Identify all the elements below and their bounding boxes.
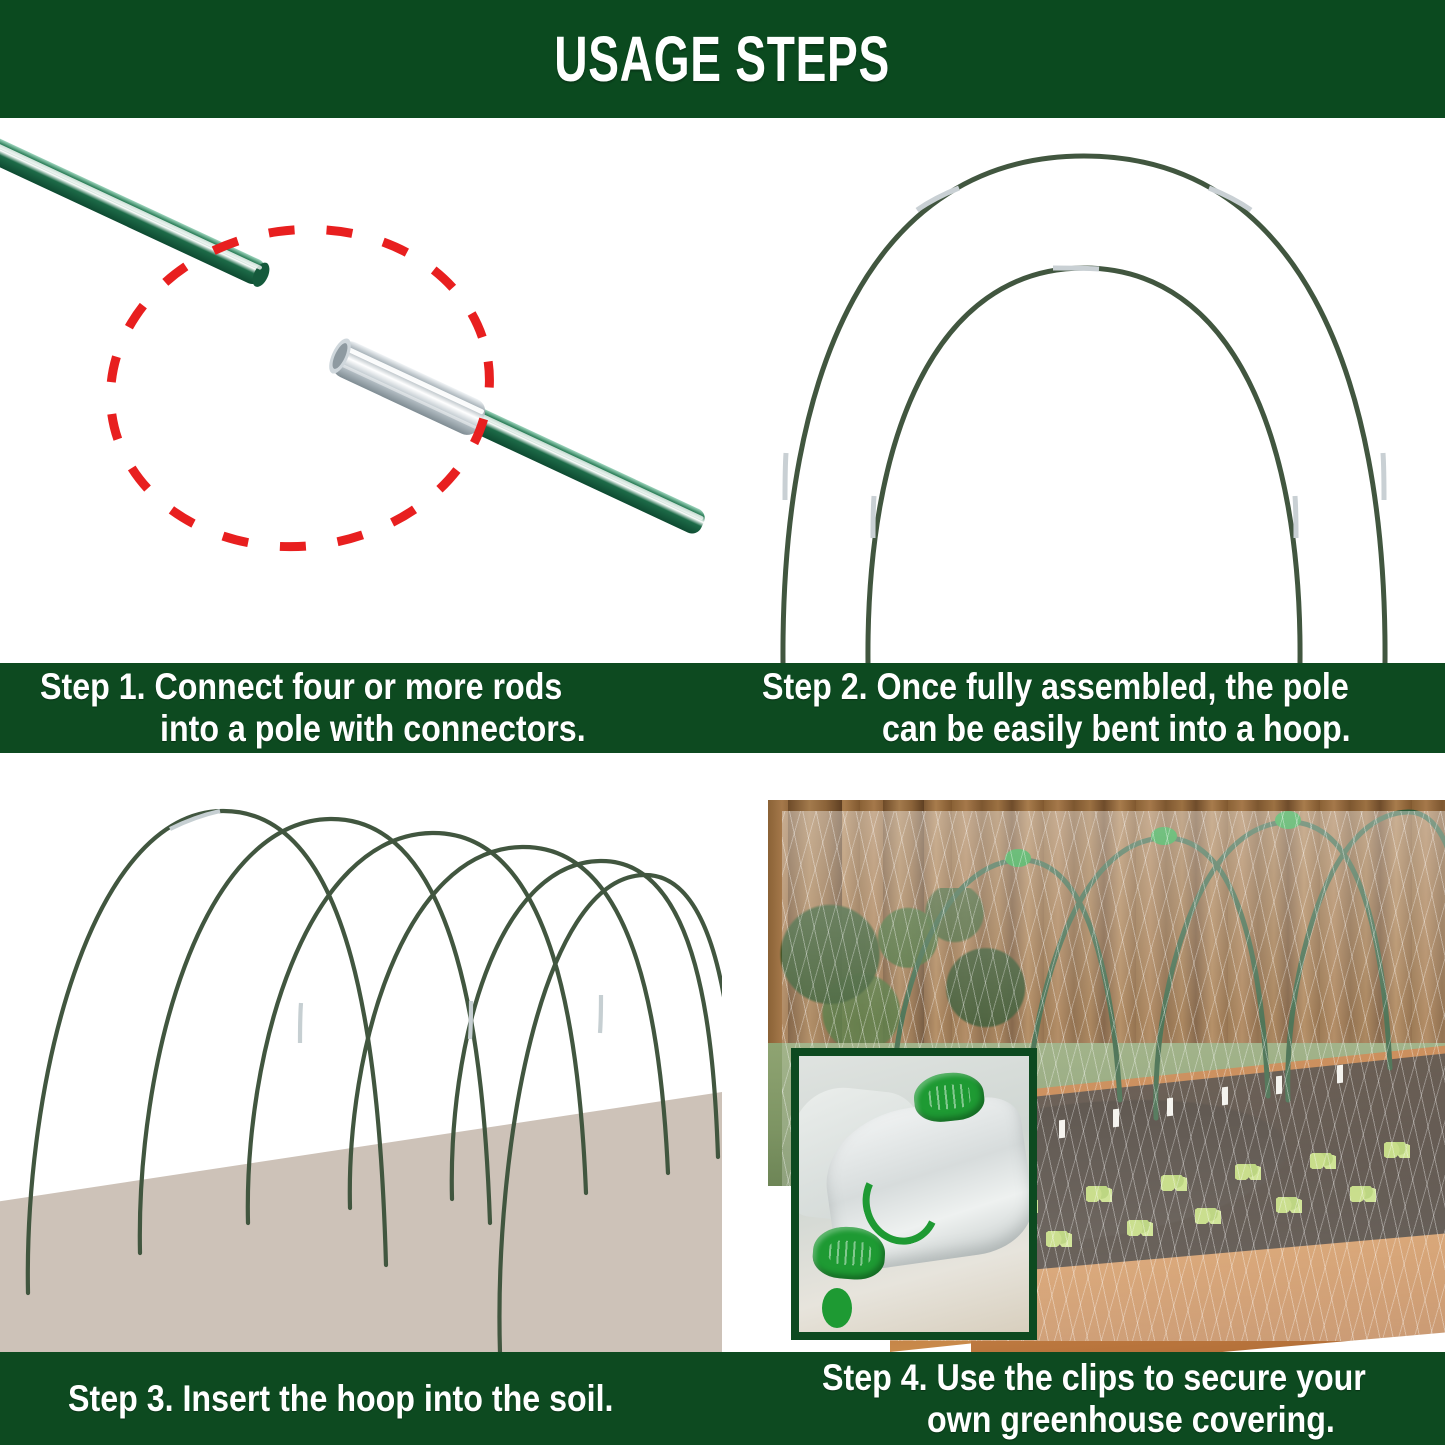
page-title: USAGE STEPS xyxy=(555,22,891,96)
step-4-caption: Step 4. Use the clips to secure your own… xyxy=(722,1352,1444,1445)
silver-connector-sleeve xyxy=(325,335,490,439)
step-3-caption: Step 3. Insert the hoop into the soil. xyxy=(0,1352,722,1445)
step-4-caption-line-1: Step 4. Use the clips to secure your xyxy=(822,1357,1347,1399)
step-2-caption-line-2: can be easily bent into a hoop. xyxy=(882,708,1355,750)
header-banner: USAGE STEPS xyxy=(0,0,1445,118)
outer-hoop xyxy=(783,156,1385,663)
green-rod-left xyxy=(0,124,273,289)
clip-tail xyxy=(822,1288,852,1328)
step-2-caption-line-1: Step 2. Once fully assembled, the pole xyxy=(762,666,1340,708)
step-2-caption: Step 2. Once fully assembled, the pole c… xyxy=(722,663,1444,753)
garden-photo xyxy=(768,800,1445,1352)
step-4-photograph-panel xyxy=(723,753,1445,1352)
step-3-caption-line-1: Step 3. Insert the hoop into the soil. xyxy=(68,1378,621,1420)
hoop-clip xyxy=(1005,811,1301,867)
step-1-caption: Step 1. Connect four or more rods into a… xyxy=(0,663,722,753)
step-4-caption-line-2: own greenhouse covering. xyxy=(927,1399,1361,1441)
clip-closeup-inset xyxy=(791,1048,1037,1340)
green-rod-right xyxy=(325,335,711,542)
rods-connector-diagram xyxy=(0,118,722,663)
hoop-row-diagram xyxy=(0,753,722,1352)
connector-segments xyxy=(785,188,1384,538)
hoop-row xyxy=(28,811,722,1352)
step-1-illustration-panel xyxy=(0,118,722,663)
step-3-4-caption-band: Step 3. Insert the hoop into the soil. S… xyxy=(0,1352,1445,1445)
step-1-caption-line-2: into a pole with connectors. xyxy=(160,708,633,750)
step-3-illustration-panel xyxy=(0,753,722,1352)
inner-hoop xyxy=(868,268,1300,663)
infographic-page: USAGE STEPS xyxy=(0,0,1445,1445)
bent-hoops-diagram xyxy=(723,118,1445,663)
step-1-caption-line-1: Step 1. Connect four or more rods xyxy=(40,666,618,708)
step-1-2-caption-band: Step 1. Connect four or more rods into a… xyxy=(0,663,1445,753)
step-2-illustration-panel xyxy=(723,118,1445,663)
